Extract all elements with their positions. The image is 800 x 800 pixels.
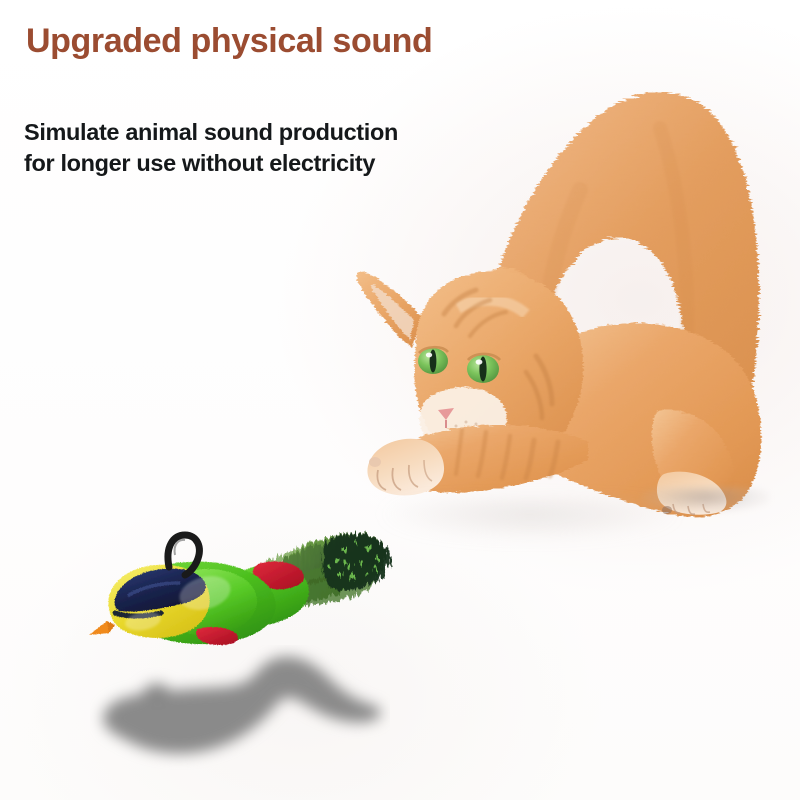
page-subtitle-line-2: for longer use without electricity — [24, 148, 398, 179]
page-title: Upgraded physical sound — [26, 22, 432, 60]
cat-paw-contact-shadow — [640, 487, 770, 513]
plush-bird-cat-toy — [85, 505, 415, 675]
orange-tabby-kitten — [330, 70, 800, 530]
cat-front-paw — [367, 439, 444, 496]
page-subtitle: Simulate animal sound production for lon… — [24, 117, 398, 179]
page-subtitle-line-1: Simulate animal sound production — [24, 117, 398, 148]
cat-ear-left — [357, 271, 422, 348]
promo-image-canvas: Upgraded physical sound Simulate animal … — [0, 0, 800, 800]
bird-feather-tip — [322, 534, 390, 591]
cat-ground-shadow — [380, 500, 680, 540]
